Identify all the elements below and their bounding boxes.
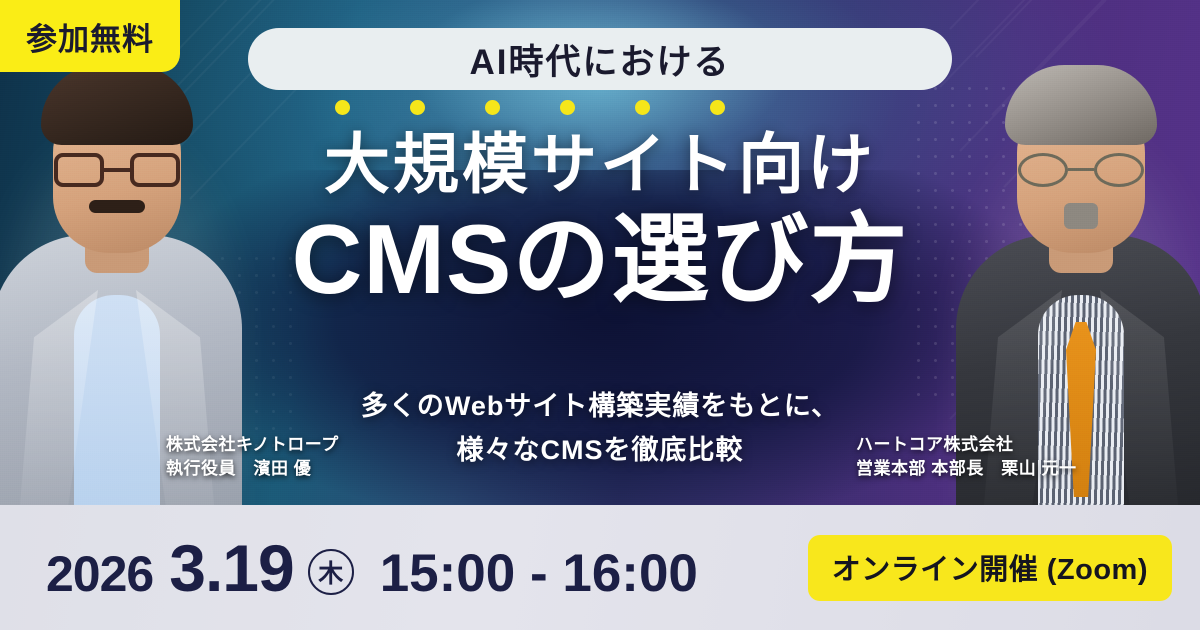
page-title: 大規模サイト向け CMSの選び方 [0, 128, 1200, 314]
free-admission-badge: 参加無料 [0, 0, 180, 72]
headline-line-2: CMSの選び方 [0, 205, 1200, 315]
speaker-caption-right: ハートコア株式会社 営業本部 本部長 栗山 元一 [856, 433, 1076, 482]
schedule-bar: 2026 3.19 木 15:00 - 16:00 オンライン開催 (Zoom) [0, 505, 1200, 630]
event-time: 15:00 - 16:00 [380, 543, 698, 604]
dot-icon [485, 100, 500, 115]
speaker-left-org: 株式会社キノトロープ [166, 433, 339, 458]
decorative-dots-row [335, 100, 725, 115]
event-year: 2026 [46, 545, 153, 603]
dot-icon [635, 100, 650, 115]
dot-icon [560, 100, 575, 115]
dot-icon [710, 100, 725, 115]
dot-icon [410, 100, 425, 115]
free-admission-label: 参加無料 [26, 14, 154, 59]
webinar-banner: 参加無料 AI時代における 大規模サイト向け CMSの選び方 多くのWebサイト… [0, 0, 1200, 630]
online-event-badge: オンライン開催 (Zoom) [808, 535, 1172, 601]
eyebrow-pill: AI時代における [248, 28, 952, 90]
dot-icon [335, 100, 350, 115]
speaker-left-name: 執行役員 濱田 優 [166, 457, 339, 482]
online-event-label: オンライン開催 (Zoom) [832, 546, 1148, 588]
speaker-right-org: ハートコア株式会社 [856, 433, 1076, 458]
event-day: 3.19 [169, 530, 293, 606]
eyebrow-label: AI時代における [469, 34, 730, 85]
event-date: 2026 3.19 木 15:00 - 16:00 [46, 530, 698, 606]
headline-line-1: 大規模サイト向け [0, 128, 1200, 201]
speaker-right-name: 営業本部 本部長 栗山 元一 [856, 457, 1076, 482]
speaker-caption-left: 株式会社キノトロープ 執行役員 濱田 優 [166, 433, 339, 482]
day-of-week-badge: 木 [308, 549, 354, 595]
subtitle-line-1: 多くのWebサイト構築実績をもとに、 [0, 385, 1200, 429]
